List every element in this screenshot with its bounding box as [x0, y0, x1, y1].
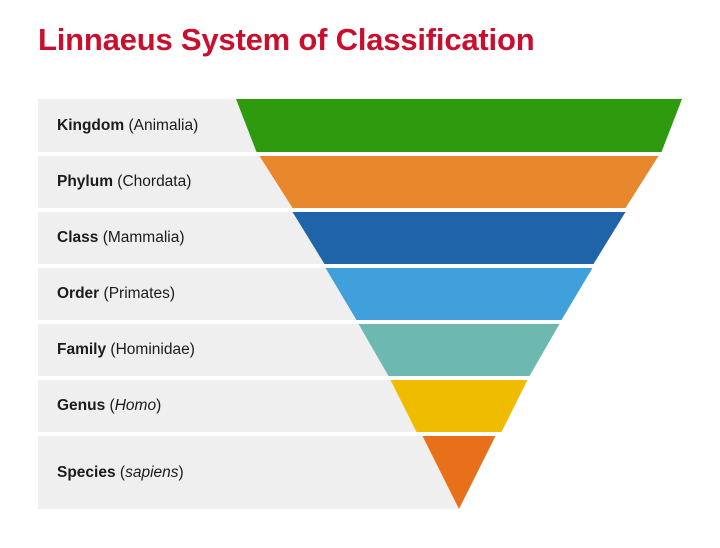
funnel-band-species [423, 436, 496, 509]
funnel-label-family: Family (Hominidae) [57, 342, 195, 358]
close-paren: ) [190, 341, 195, 358]
funnel-band-phylum [260, 156, 659, 208]
close-paren: ) [193, 117, 198, 134]
funnel-band-kingdom [236, 99, 682, 152]
rank-name: Family [57, 341, 106, 358]
funnel-label-class: Class (Mammalia) [57, 230, 185, 246]
close-paren: ) [179, 464, 184, 481]
rank-name: Order [57, 285, 99, 302]
rank-name: Genus [57, 397, 105, 414]
taxon-name: sapiens [125, 464, 178, 481]
close-paren: ) [156, 397, 161, 414]
close-paren: ) [170, 285, 175, 302]
funnel-label-order: Order (Primates) [57, 286, 175, 302]
taxon-name: Chordata [122, 173, 186, 190]
funnel-label-kingdom: Kingdom (Animalia) [57, 118, 198, 134]
rank-name: Species [57, 464, 116, 481]
rank-name: Class [57, 229, 98, 246]
funnel-diagram: Kingdom (Animalia)Phylum (Chordata)Class… [0, 0, 720, 548]
funnel-band-genus [391, 380, 528, 432]
funnel-label-phylum: Phylum (Chordata) [57, 174, 191, 190]
taxon-name: Mammalia [108, 229, 179, 246]
rank-name: Kingdom [57, 117, 124, 134]
close-paren: ) [179, 229, 184, 246]
rank-name: Phylum [57, 173, 113, 190]
taxon-name: Hominidae [116, 341, 190, 358]
taxon-name: Primates [109, 285, 170, 302]
funnel-label-species: Species (sapiens) [57, 465, 184, 481]
taxon-name: Homo [115, 397, 156, 414]
close-paren: ) [186, 173, 191, 190]
funnel-band-order [326, 268, 593, 320]
funnel-band-class [293, 212, 626, 264]
taxon-name: Animalia [134, 117, 193, 134]
funnel-label-genus: Genus (Homo) [57, 398, 161, 414]
funnel-band-family [359, 324, 560, 376]
diagram-page: Linnaeus System of Classification Kingdo… [0, 0, 720, 548]
